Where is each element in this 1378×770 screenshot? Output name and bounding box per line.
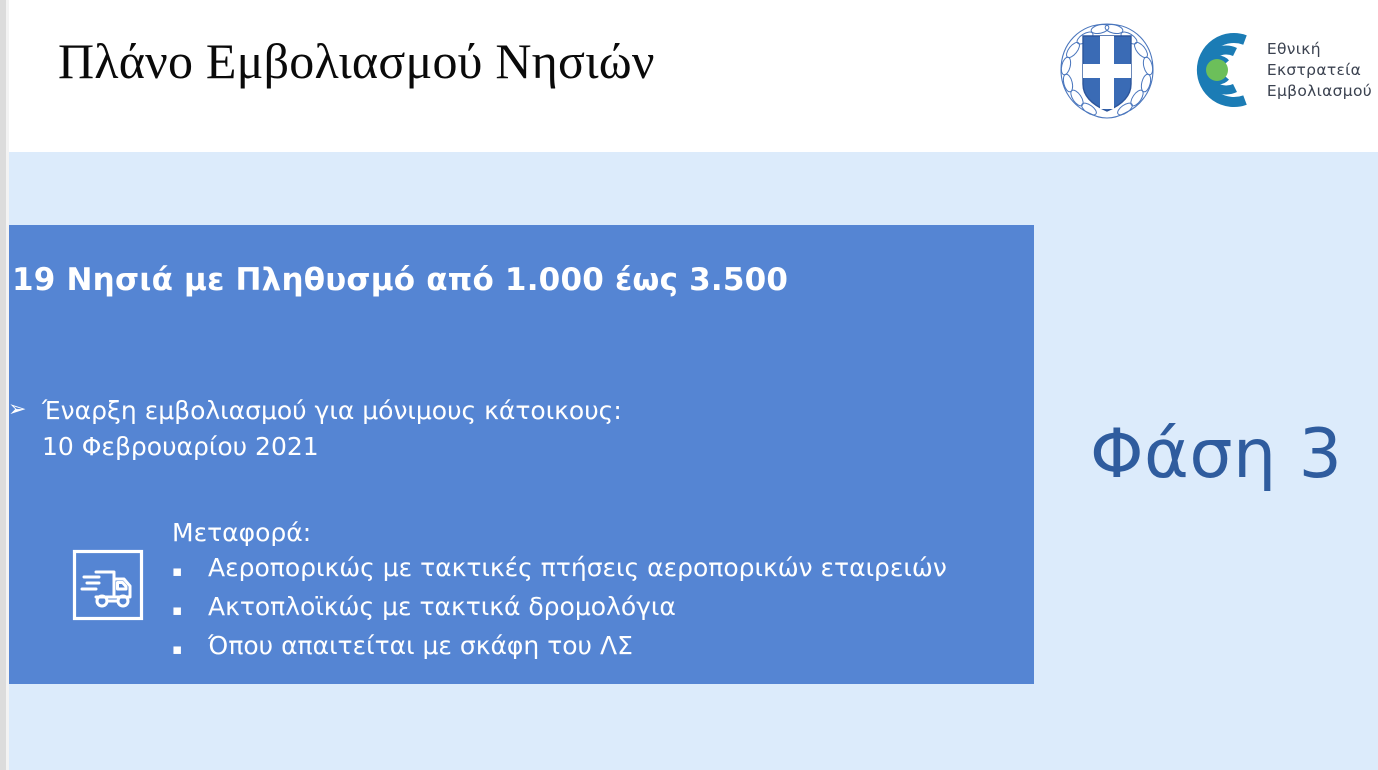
transport-title: Μεταφορά: bbox=[172, 515, 947, 550]
main-bullet-line-1: Έναρξη εμβολιασμού για μόνιμους κάτοικου… bbox=[42, 396, 622, 425]
panel-heading: 19 Νησιά με Πληθυσμό από 1.000 έως 3.500 bbox=[12, 262, 788, 298]
list-item: ▪ Αεροπορικώς με τακτικές πτήσεις αεροπο… bbox=[172, 550, 947, 589]
logo-text-line-2: Εκστρατεία bbox=[1267, 61, 1361, 79]
list-item: ▪ Ακτοπλοϊκώς με τακτικά δρομολόγια bbox=[172, 589, 947, 628]
square-bullet-icon: ▪ bbox=[172, 632, 208, 667]
logo-text-line-1: Εθνική bbox=[1267, 40, 1321, 58]
slide-header: Πλάνο Εμβολιασμού Νησιών bbox=[0, 0, 1378, 152]
delivery-truck-icon bbox=[72, 549, 144, 621]
transport-sub-list: ▪ Αεροπορικώς με τακτικές πτήσεις αεροπο… bbox=[172, 550, 947, 667]
main-bullet: ➢ Έναρξη εμβολιασμού για μόνιμους κάτοικ… bbox=[8, 393, 622, 465]
left-edge-strip-inner bbox=[6, 0, 9, 770]
list-item-label: Αεροπορικώς με τακτικές πτήσεις αεροπορι… bbox=[208, 550, 947, 585]
logo-lockup: Εθνική Εκστρατεία Εμβολιασμού bbox=[1051, 14, 1372, 126]
greek-coat-of-arms-icon bbox=[1051, 14, 1163, 126]
list-item: ▪ Όπου απαιτείται με σκάφη του ΛΣ bbox=[172, 628, 947, 667]
phase-label: Φάση 3 bbox=[1090, 415, 1342, 495]
page-title: Πλάνο Εμβολιασμού Νησιών bbox=[58, 30, 655, 92]
vaccination-campaign-c-icon bbox=[1171, 22, 1259, 118]
content-panel: 19 Νησιά με Πληθυσμό από 1.000 έως 3.500… bbox=[0, 225, 1034, 684]
list-item-label: Ακτοπλοϊκώς με τακτικά δρομολόγια bbox=[208, 589, 676, 624]
transport-text-group: Μεταφορά: ▪ Αεροπορικώς με τακτικές πτήσ… bbox=[172, 515, 947, 667]
main-bullet-text: Έναρξη εμβολιασμού για μόνιμους κάτοικου… bbox=[42, 393, 622, 465]
logo-text-line-3: Εμβολιασμού bbox=[1267, 82, 1372, 100]
main-bullet-line-2: 10 Φεβρουαρίου 2021 bbox=[42, 432, 319, 461]
square-bullet-icon: ▪ bbox=[172, 554, 208, 589]
transport-block: Μεταφορά: ▪ Αεροπορικώς με τακτικές πτήσ… bbox=[72, 515, 947, 667]
arrow-bullet-icon: ➢ bbox=[8, 393, 42, 427]
slide-canvas: Πλάνο Εμβολιασμού Νησιών bbox=[0, 0, 1378, 770]
square-bullet-icon: ▪ bbox=[172, 593, 208, 628]
list-item-label: Όπου απαιτείται με σκάφη του ΛΣ bbox=[208, 628, 633, 663]
logo-text: Εθνική Εκστρατεία Εμβολιασμού bbox=[1267, 39, 1372, 102]
